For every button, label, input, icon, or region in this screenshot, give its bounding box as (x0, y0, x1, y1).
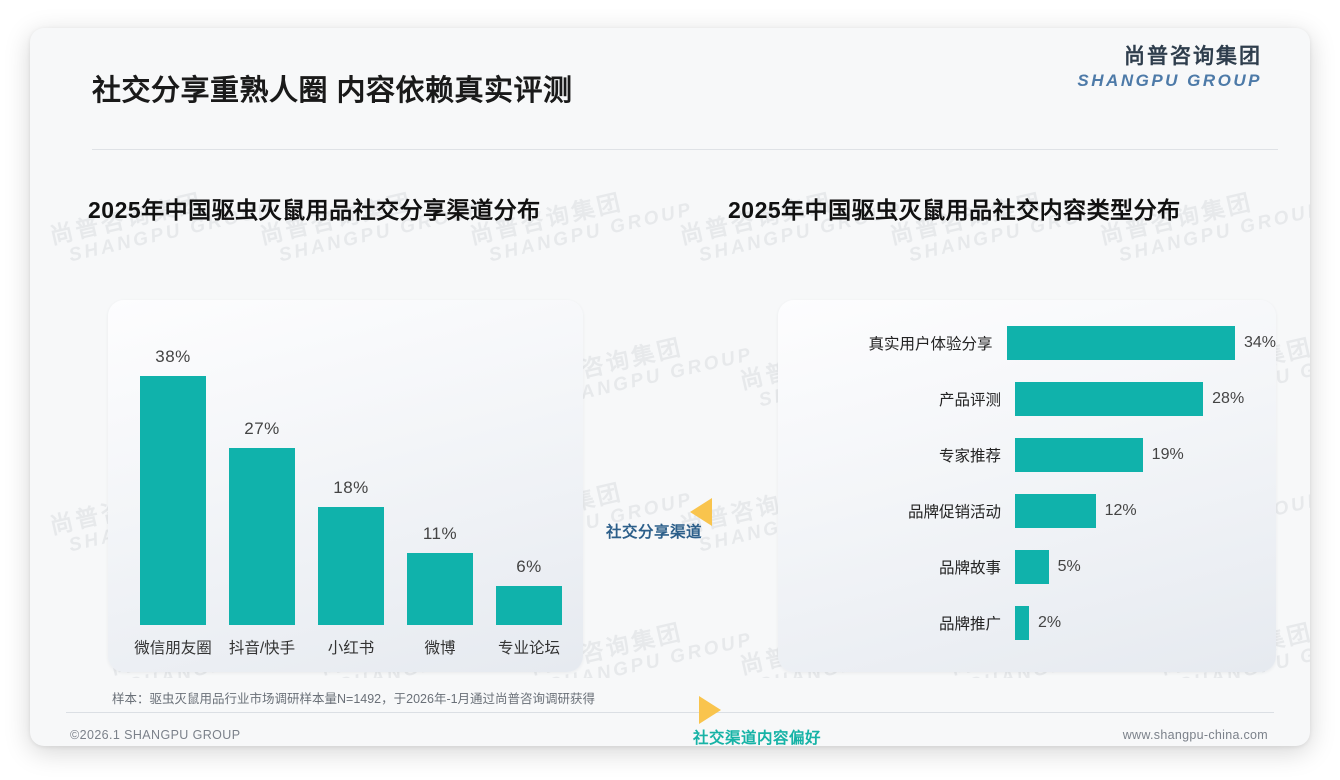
vertical-bar-value: 38% (140, 347, 206, 367)
vertical-bar-value: 6% (496, 557, 562, 577)
annotation-right-label: 社交渠道内容偏好 (693, 730, 821, 746)
horizontal-bar-rect (1015, 382, 1203, 416)
horizontal-bar-rect (1015, 550, 1049, 584)
horizontal-bar-item: 品牌推广2% (778, 606, 1276, 640)
horizontal-bar-item: 品牌故事5% (778, 550, 1276, 584)
vertical-bar-category-label: 抖音/快手 (217, 636, 307, 658)
right-chart-card: 真实用户体验分享34%产品评测28%专家推荐19%品牌促销活动12%品牌故事5%… (778, 300, 1276, 672)
vertical-bar-value: 27% (229, 419, 295, 439)
vertical-bar-item: 6%专业论坛 (496, 586, 562, 625)
vertical-bar-rect (407, 553, 473, 625)
horizontal-bar-rect (1007, 326, 1235, 360)
horizontal-bar-value: 28% (1212, 390, 1244, 408)
vertical-bar-item: 18%小红书 (318, 507, 384, 625)
logo-english-text: SHANGPU GROUP (1077, 72, 1262, 89)
vertical-bar-category-label: 小红书 (306, 636, 396, 658)
vertical-bar-rect (496, 586, 562, 625)
footer-website: www.shangpu-china.com (1123, 728, 1268, 742)
annotation-content-preference: 社交渠道内容偏好 (693, 726, 821, 746)
horizontal-bar-item: 真实用户体验分享34% (778, 326, 1276, 360)
footer-copyright: ©2026.1 SHANGPU GROUP (70, 728, 240, 742)
horizontal-bar-value: 5% (1058, 558, 1081, 576)
annotation-left-label: 社交分享渠道 (606, 524, 702, 541)
horizontal-bar-category-label: 品牌促销活动 (778, 500, 1015, 522)
horizontal-bar-chart: 真实用户体验分享34%产品评测28%专家推荐19%品牌促销活动12%品牌故事5%… (778, 300, 1276, 672)
horizontal-bar-value: 2% (1038, 614, 1061, 632)
slide-canvas: 社交分享重熟人圈 内容依赖真实评测 尚普咨询集团 SHANGPU GROUP 尚… (30, 28, 1310, 746)
vertical-bar-value: 18% (318, 478, 384, 498)
vertical-bar-value: 11% (407, 524, 473, 544)
vertical-bar-category-label: 微博 (395, 636, 485, 658)
triangle-left-icon (690, 498, 712, 526)
sample-footnote: 样本：驱虫灭鼠用品行业市场调研样本量N=1492，于2026年-1月通过尚普咨询… (112, 688, 595, 707)
horizontal-bar-category-label: 产品评测 (778, 388, 1015, 410)
vertical-bar-rect (318, 507, 384, 625)
horizontal-bar-rect (1015, 494, 1096, 528)
vertical-bar-chart: 38%微信朋友圈27%抖音/快手18%小红书11%微博6%专业论坛 (108, 300, 583, 672)
horizontal-bar-category-label: 真实用户体验分享 (778, 332, 1007, 354)
horizontal-bar-value: 19% (1152, 446, 1184, 464)
vertical-bar-item: 27%抖音/快手 (229, 448, 295, 625)
vertical-bar-rect (229, 448, 295, 625)
horizontal-bar-value: 12% (1105, 502, 1137, 520)
horizontal-bar-value: 34% (1244, 334, 1276, 352)
logo-chinese-text: 尚普咨询集团 (1077, 46, 1262, 67)
left-chart-card: 38%微信朋友圈27%抖音/快手18%小红书11%微博6%专业论坛 (108, 300, 583, 672)
horizontal-bar-category-label: 品牌故事 (778, 556, 1015, 578)
horizontal-bar-item: 品牌促销活动12% (778, 494, 1276, 528)
horizontal-bar-item: 产品评测28% (778, 382, 1276, 416)
charts-region: 2025年中国驱虫灭鼠用品社交分享渠道分布 2025年中国驱虫灭鼠用品社交内容类… (30, 158, 1310, 678)
horizontal-bar-item: 专家推荐19% (778, 438, 1276, 472)
header-divider (92, 149, 1278, 150)
horizontal-bar-rect (1015, 606, 1029, 640)
vertical-bar-rect (140, 376, 206, 625)
horizontal-bar-category-label: 专家推荐 (778, 444, 1015, 466)
annotation-social-share-channel: 社交分享渠道 (606, 520, 702, 542)
horizontal-bar-category-label: 品牌推广 (778, 612, 1015, 634)
slide-footer: ©2026.1 SHANGPU GROUP www.shangpu-china.… (30, 712, 1310, 746)
right-chart-title: 2025年中国驱虫灭鼠用品社交内容类型分布 (728, 191, 1181, 225)
vertical-bar-item: 38%微信朋友圈 (140, 376, 206, 625)
page-title: 社交分享重熟人圈 内容依赖真实评测 (92, 67, 573, 109)
vertical-bar-category-label: 专业论坛 (484, 636, 574, 658)
triangle-right-icon (699, 696, 721, 724)
vertical-bar-category-label: 微信朋友圈 (128, 636, 218, 658)
horizontal-bar-rect (1015, 438, 1143, 472)
left-chart-title: 2025年中国驱虫灭鼠用品社交分享渠道分布 (88, 191, 541, 225)
slide-header: 社交分享重熟人圈 内容依赖真实评测 尚普咨询集团 SHANGPU GROUP (30, 28, 1310, 121)
brand-logo: 尚普咨询集团 SHANGPU GROUP (1077, 46, 1262, 89)
vertical-bar-item: 11%微博 (407, 553, 473, 625)
